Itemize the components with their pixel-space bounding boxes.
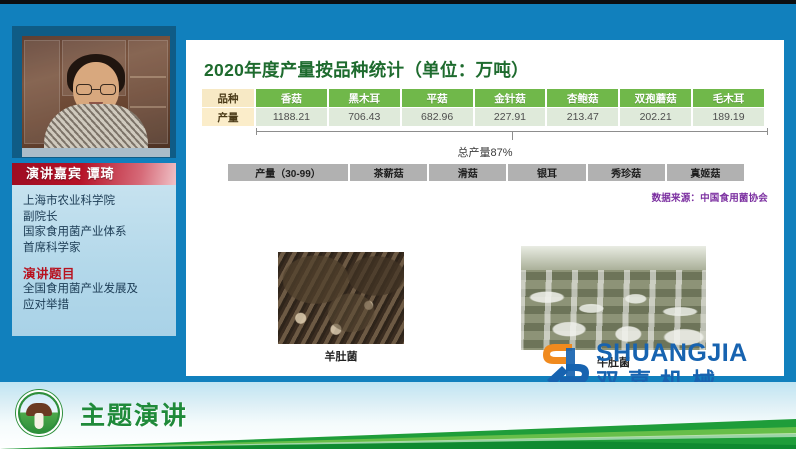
sub-table-col-2: 银耳 — [508, 164, 585, 181]
top-edge-strip — [0, 0, 796, 4]
sub-table-col-3: 秀珍菇 — [588, 164, 665, 181]
bio-line-4: 首席科学家 — [23, 241, 165, 257]
table-value-3: 227.91 — [475, 108, 546, 126]
photo-caption-left: 羊肚菌 — [278, 348, 404, 364]
table-col-5: 双孢蘑菇 — [620, 89, 691, 107]
speaker-name-banner: 演讲嘉宾 谭琦 — [12, 163, 176, 185]
video-bottom-strip — [22, 148, 170, 157]
table-col-6: 毛木耳 — [693, 89, 764, 107]
speaker-bio-box: 上海市农业科学院 副院长 国家食用菌产业体系 首席科学家 演讲题目 全国食用菌产… — [12, 185, 176, 336]
table-row-label-output: 产量 — [202, 108, 254, 126]
total-bracket — [256, 128, 768, 140]
table-row-label-variety: 品种 — [202, 89, 254, 107]
sub-table-row: 产量（30-99） 茶薪菇 滑菇 银耳 秀珍菇 真姬菇 — [228, 164, 744, 181]
banner-title: 主题演讲 — [80, 396, 188, 432]
shelf-line-1 — [130, 76, 166, 78]
table-value-2: 682.96 — [402, 108, 473, 126]
table-col-0: 香菇 — [256, 89, 327, 107]
table-value-0: 1188.21 — [256, 108, 327, 126]
speaker-panel: 演讲嘉宾 谭琦 上海市农业科学院 副院长 国家食用菌产业体系 首席科学家 演讲题… — [12, 26, 176, 336]
table-col-4: 杏鲍菇 — [547, 89, 618, 107]
table-value-row: 产量 1188.21 706.43 682.96 227.91 213.47 2… — [202, 108, 764, 126]
speaker-video-feed[interactable] — [12, 26, 176, 158]
table-col-2: 平菇 — [402, 89, 473, 107]
presentation-slide: 2020年度产量按品种统计（单位：万吨） 品种 香菇 黑木耳 平菇 金针菇 杏鲍… — [186, 40, 784, 376]
secondary-variety-table: 产量（30-99） 茶薪菇 滑菇 银耳 秀珍菇 真姬菇 — [226, 164, 746, 181]
shuangjia-logo — [542, 342, 590, 386]
data-source-note: 数据来源：中国食用菌协会 — [652, 190, 768, 204]
bio-line-2: 副院长 — [23, 210, 165, 226]
table-value-6: 189.19 — [693, 108, 764, 126]
table-value-1: 706.43 — [329, 108, 400, 126]
production-table: 品种 香菇 黑木耳 平菇 金针菇 杏鲍菇 双孢蘑菇 毛木耳 产量 1188.21… — [200, 88, 766, 127]
bottom-banner: 主题演讲 — [0, 382, 796, 449]
table-value-4: 213.47 — [547, 108, 618, 126]
sub-table-col-1: 滑菇 — [429, 164, 506, 181]
topic-line-2: 应对举措 — [23, 298, 165, 314]
shelf-line-2 — [130, 106, 166, 108]
conference-emblem — [16, 390, 62, 436]
topic-line-1: 全国食用菌产业发展及 — [23, 282, 165, 298]
total-output-label: 总产量87% — [186, 144, 784, 160]
morel-mushroom-photo — [278, 252, 404, 344]
sub-table-lead: 产量（30-99） — [228, 164, 348, 181]
slide-title: 2020年度产量按品种统计（单位：万吨） — [204, 57, 529, 82]
speaker-name-label: 演讲嘉宾 谭琦 — [12, 163, 176, 185]
table-col-1: 黑木耳 — [329, 89, 400, 107]
speaker-glasses — [76, 84, 116, 95]
bio-line-1: 上海市农业科学院 — [23, 194, 165, 210]
screen: 演讲嘉宾 谭琦 上海市农业科学院 副院长 国家食用菌产业体系 首席科学家 演讲题… — [0, 0, 796, 449]
sub-table-col-0: 茶薪菇 — [350, 164, 427, 181]
cultivated-mushroom-photo — [521, 246, 706, 350]
table-header-row: 品种 香菇 黑木耳 平菇 金针菇 杏鲍菇 双孢蘑菇 毛木耳 — [202, 89, 764, 107]
sub-table-col-4: 真姬菇 — [667, 164, 744, 181]
table-value-5: 202.21 — [620, 108, 691, 126]
topic-heading: 演讲题目 — [23, 266, 165, 282]
bio-line-3: 国家食用菌产业体系 — [23, 225, 165, 241]
table-col-3: 金针菇 — [475, 89, 546, 107]
video-frame — [22, 36, 170, 148]
